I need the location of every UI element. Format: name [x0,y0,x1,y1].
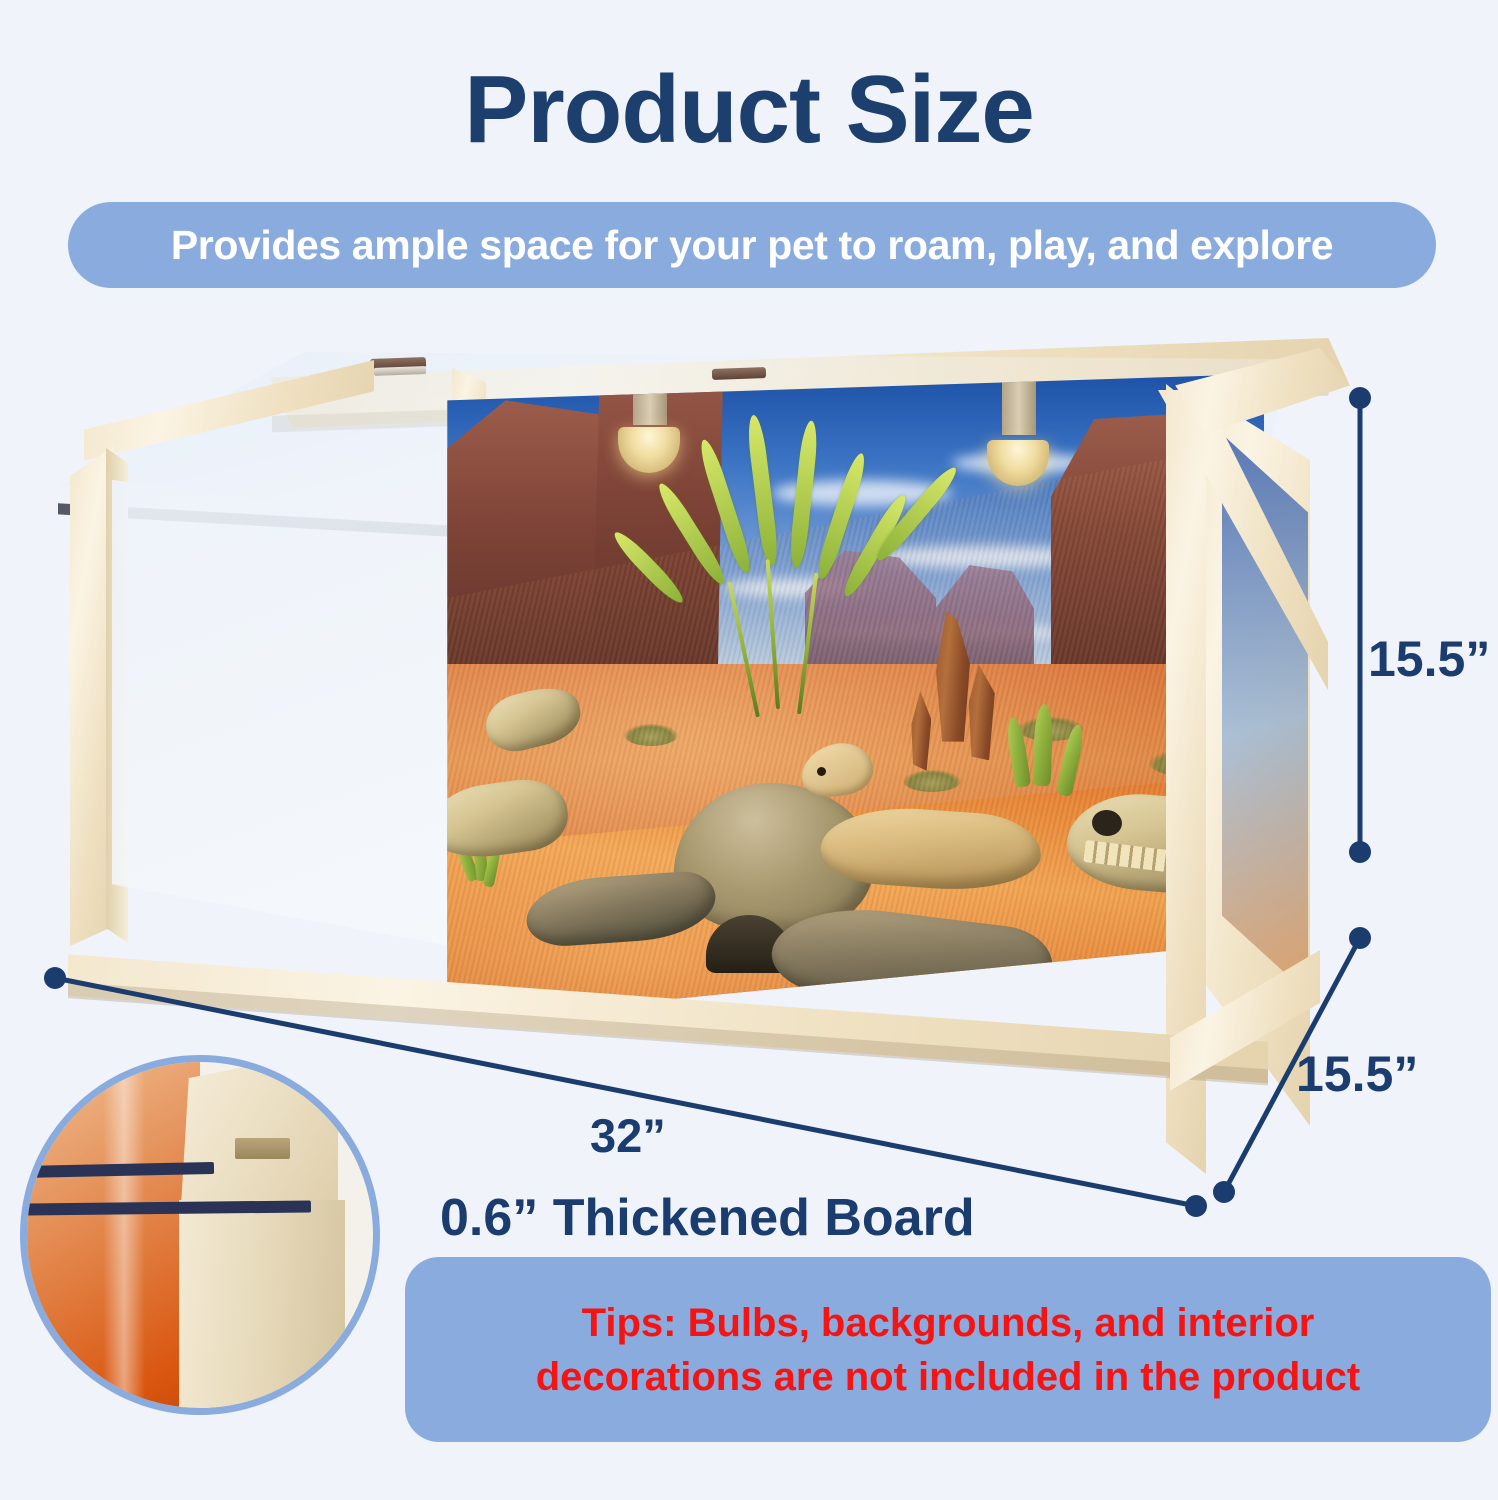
bulb-socket-cord [1002,374,1036,435]
tips-line-2: decorations are not included in the prod… [536,1357,1361,1397]
bearded-dragon-eye [817,767,826,776]
product-photo-terrarium [40,330,1350,1150]
front-glass-panel-left [112,480,472,950]
terrarium-interior-scene [444,374,1264,1034]
dimension-endpoint-dot [1349,387,1371,409]
inset-glass-reflection [103,1055,145,1415]
cactus-leaf [1033,704,1054,787]
tips-line-1: Tips: Bulbs, backgrounds, and interior [582,1303,1315,1343]
page-title: Product Size [0,62,1498,158]
dimension-label-height: 15.5” [1368,630,1490,688]
inset-joint-notch [235,1138,290,1159]
subtitle-banner: Provides ample space for your pet to roa… [68,202,1436,288]
dimension-endpoint-dot [1185,1195,1207,1217]
dimension-label-depth: 15.5” [1296,1045,1418,1103]
inset-wood-side-face [179,1200,345,1415]
dimension-label-width: 32” [590,1108,666,1163]
product-size-infographic: Product Size Provides ample space for yo… [0,0,1498,1500]
subtitle-text: Provides ample space for your pet to roa… [171,222,1333,269]
board-thickness-detail-inset [20,1055,380,1415]
dimension-endpoint-dot [1349,927,1371,949]
tips-banner: Tips: Bulbs, backgrounds, and interior d… [405,1257,1491,1442]
board-thickness-label: 0.6” Thickened Board [440,1188,975,1248]
dimension-endpoint-dot [1349,841,1371,863]
dimension-endpoint-dot [1213,1181,1235,1203]
hinge-icon [712,367,766,380]
